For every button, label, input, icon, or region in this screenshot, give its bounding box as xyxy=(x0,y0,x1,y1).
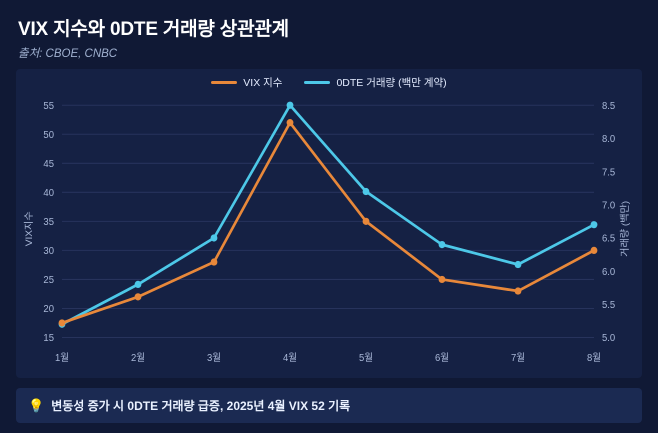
x-axis-ticks: 1월2월3월4월5월6월7월8월 xyxy=(55,352,601,364)
svg-text:30: 30 xyxy=(43,246,54,257)
svg-text:5.0: 5.0 xyxy=(602,333,616,344)
data-point xyxy=(363,188,370,195)
chart-svg: 152025303540455055 5.05.56.06.57.07.58.0… xyxy=(16,69,642,378)
data-point xyxy=(135,293,142,300)
svg-text:4월: 4월 xyxy=(283,352,297,364)
svg-text:15: 15 xyxy=(43,333,54,344)
svg-text:6월: 6월 xyxy=(435,352,449,364)
data-point xyxy=(515,287,522,294)
y-axis-right-title: 거래량 (백만) xyxy=(619,201,631,257)
svg-text:8.0: 8.0 xyxy=(602,134,616,145)
svg-text:25: 25 xyxy=(43,275,54,286)
data-point xyxy=(287,119,294,126)
data-point xyxy=(59,319,66,326)
y-axis-right-ticks: 5.05.56.06.57.07.58.08.5 xyxy=(602,101,616,345)
chart-panel: VIX 지수 0DTE 거래량 (백만 계약) 1520253035404550… xyxy=(16,69,642,378)
plot-area: 152025303540455055 5.05.56.06.57.07.58.0… xyxy=(16,69,642,378)
svg-text:7월: 7월 xyxy=(511,352,525,364)
data-point xyxy=(363,218,370,225)
series-line-vix xyxy=(62,123,594,323)
page-title: VIX 지수와 0DTE 거래량 상관관계 xyxy=(18,14,642,41)
svg-text:45: 45 xyxy=(43,159,54,170)
data-point xyxy=(135,281,142,288)
svg-text:55: 55 xyxy=(43,101,54,112)
svg-text:7.5: 7.5 xyxy=(602,167,616,178)
svg-text:3월: 3월 xyxy=(207,352,221,364)
gridlines xyxy=(62,105,594,337)
data-point xyxy=(287,102,294,109)
svg-text:20: 20 xyxy=(43,304,54,315)
svg-text:8월: 8월 xyxy=(587,352,601,364)
chart-page: VIX 지수와 0DTE 거래량 상관관계 출처: CBOE, CNBC VIX… xyxy=(0,0,658,433)
svg-text:6.5: 6.5 xyxy=(602,233,616,244)
data-point xyxy=(591,247,598,254)
svg-text:1월: 1월 xyxy=(55,352,69,364)
svg-text:50: 50 xyxy=(43,130,54,141)
data-point xyxy=(439,241,446,248)
y-axis-left-title: VIX지수 xyxy=(23,211,35,246)
data-point xyxy=(515,261,522,268)
svg-text:7.0: 7.0 xyxy=(602,200,616,211)
data-point xyxy=(439,276,446,283)
data-point xyxy=(211,234,218,241)
y-axis-left-ticks: 152025303540455055 xyxy=(43,101,54,345)
svg-text:5.5: 5.5 xyxy=(602,300,616,311)
svg-text:6.0: 6.0 xyxy=(602,267,616,278)
source-caption: 출처: CBOE, CNBC xyxy=(18,45,642,61)
footer-note: 💡 변동성 증가 시 0DTE 거래량 급증, 2025년 4월 VIX 52 … xyxy=(16,388,642,423)
data-point xyxy=(211,258,218,265)
svg-text:2월: 2월 xyxy=(131,352,145,364)
svg-text:5월: 5월 xyxy=(359,352,373,364)
data-point xyxy=(591,221,598,228)
svg-text:8.5: 8.5 xyxy=(602,101,616,112)
footer-note-text: 변동성 증가 시 0DTE 거래량 급증, 2025년 4월 VIX 52 기록 xyxy=(51,397,350,414)
lightbulb-icon: 💡 xyxy=(28,399,44,412)
svg-text:40: 40 xyxy=(43,188,54,199)
svg-text:35: 35 xyxy=(43,217,54,228)
